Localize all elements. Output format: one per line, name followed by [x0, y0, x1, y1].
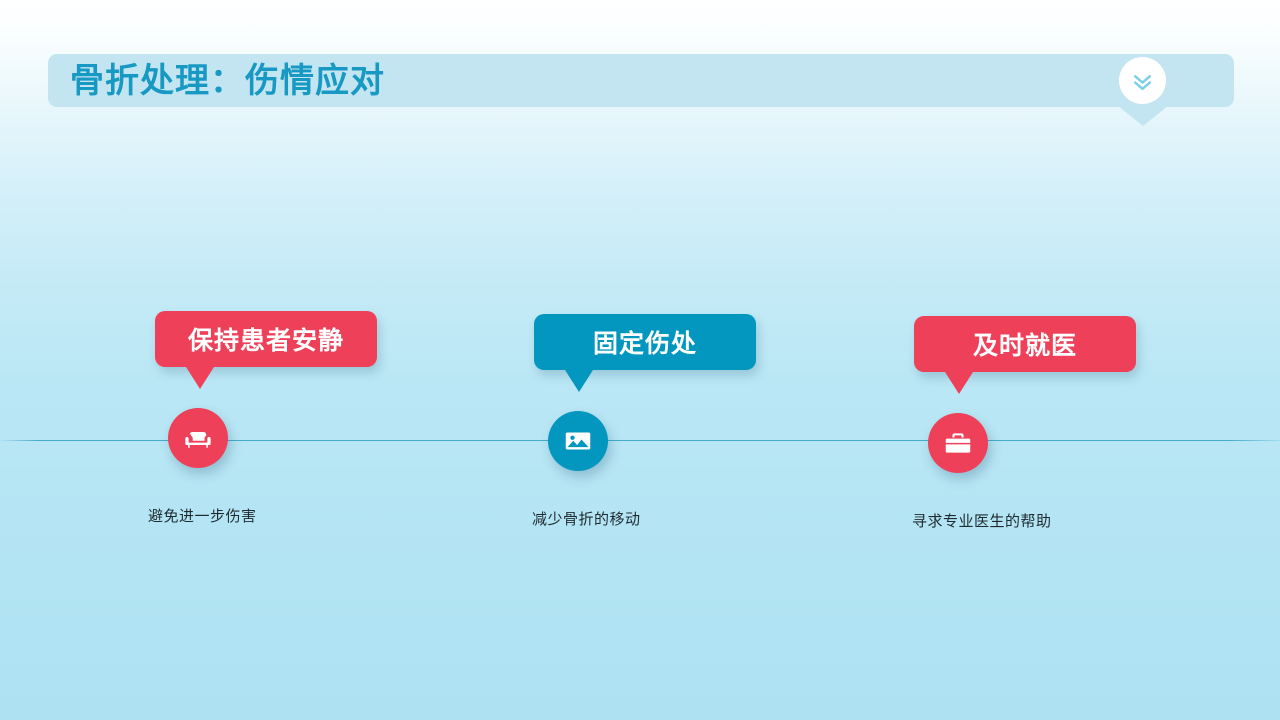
step-label-bubble-1[interactable]: 保持患者安静 — [155, 311, 377, 367]
double-chevron-down-icon[interactable] — [1119, 57, 1166, 104]
slide-canvas: 骨折处理：伤情应对 保持患者安静 避免进一步伤害 固定伤处 — [0, 0, 1280, 720]
step-bubble-tail-2 — [565, 370, 593, 392]
step-label-bubble-2[interactable]: 固定伤处 — [534, 314, 756, 370]
armchair-icon[interactable] — [168, 408, 228, 468]
step-caption-1: 避免进一步伤害 — [148, 505, 257, 526]
image-icon[interactable] — [548, 411, 608, 471]
step-label-bubble-3[interactable]: 及时就医 — [914, 316, 1136, 372]
page-title: 骨折处理：伤情应对 — [70, 59, 385, 103]
header-tail-triangle — [1118, 106, 1168, 126]
step-caption-3: 寻求专业医生的帮助 — [912, 510, 1052, 531]
step-bubble-tail-3 — [945, 372, 973, 394]
briefcase-icon[interactable] — [928, 413, 988, 473]
step-caption-2: 减少骨折的移动 — [532, 508, 641, 529]
step-bubble-tail-1 — [186, 367, 214, 389]
